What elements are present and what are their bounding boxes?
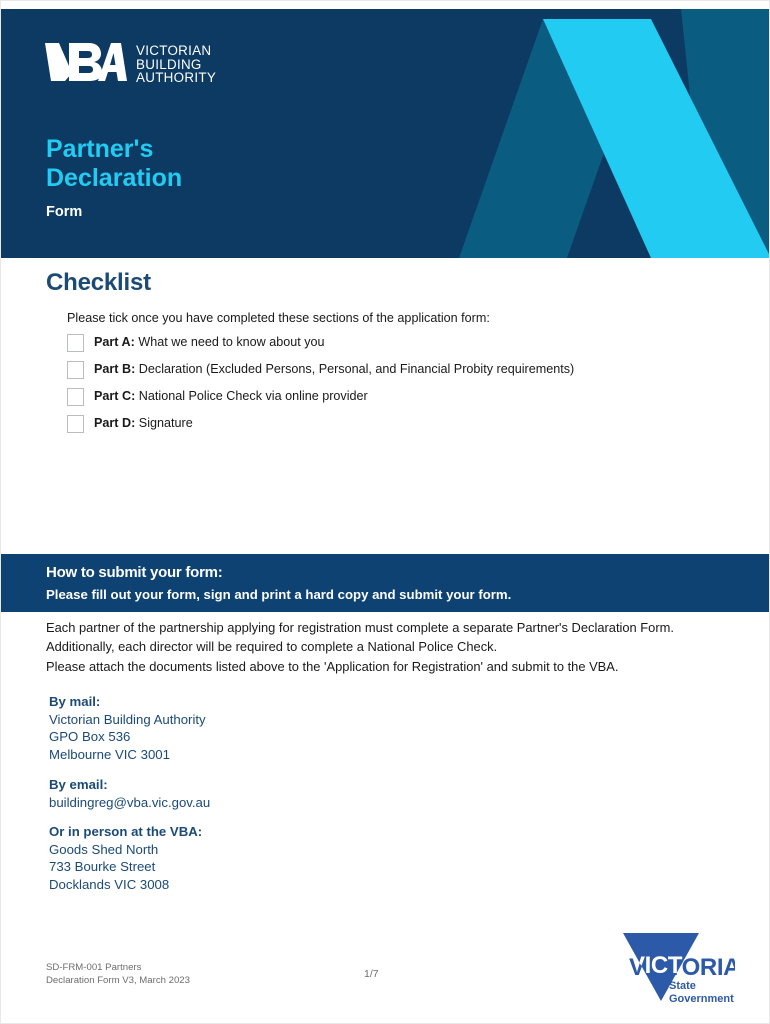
checklist-heading: Checklist: [46, 269, 151, 297]
checkbox-part-d[interactable]: [67, 415, 84, 433]
checklist-item-part-c[interactable]: Part C: National Police Check via online…: [67, 387, 707, 414]
checklist-item-label: Part B: Declaration (Excluded Persons, P…: [94, 360, 574, 378]
footer-doc-ref-line-1: SD-FRM-001 Partners: [46, 961, 190, 974]
chevron-graphic: [351, 9, 770, 258]
page-subtitle: Form: [46, 204, 82, 220]
contact-line: 733 Bourke Street: [49, 858, 202, 876]
submit-paragraph-1: Each partner of the partnership applying…: [46, 618, 706, 656]
contact-heading: By email:: [49, 776, 210, 794]
checklist-item-text: What we need to know about you: [135, 335, 325, 349]
contact-line: Melbourne VIC 3001: [49, 746, 206, 764]
contact-by-mail: By mail: Victorian Building Authority GP…: [49, 693, 206, 763]
document-page: VICTORIAN BUILDING AUTHORITY Partner's D…: [0, 0, 770, 1024]
checklist-item-part-d[interactable]: Part D: Signature: [67, 414, 707, 441]
how-to-submit-band: How to submit your form: Please fill out…: [1, 554, 770, 612]
checklist-item-part-a[interactable]: Part A: What we need to know about you: [67, 333, 707, 360]
checklist-item-text: Signature: [135, 416, 192, 430]
contact-heading: Or in person at the VBA:: [49, 823, 202, 841]
checklist-item-label: Part A: What we need to know about you: [94, 333, 325, 351]
contact-heading: By mail:: [49, 693, 206, 711]
vba-name-line-2: BUILDING: [136, 58, 216, 72]
vba-logo-icon: [43, 39, 127, 90]
vba-logo-wordmark: VICTORIAN BUILDING AUTHORITY: [136, 44, 216, 85]
vba-logo: VICTORIAN BUILDING AUTHORITY: [43, 39, 216, 90]
page-title: Partner's Declaration: [46, 135, 182, 193]
checkbox-part-a[interactable]: [67, 334, 84, 352]
submit-paragraph-2: Please attach the documents listed above…: [46, 657, 706, 676]
checkbox-part-c[interactable]: [67, 388, 84, 406]
contact-line: Goods Shed North: [49, 841, 202, 859]
checklist-item-label: Part D: Signature: [94, 414, 193, 432]
page-number: 1/7: [364, 968, 379, 980]
contact-line: Docklands VIC 3008: [49, 876, 202, 894]
checklist-item-part: Part B:: [94, 362, 135, 376]
checkbox-part-b[interactable]: [67, 361, 84, 379]
checklist-item-part: Part C:: [94, 389, 135, 403]
footer-doc-ref-line-2: Declaration Form V3, March 2023: [46, 974, 190, 987]
how-to-submit-subtitle: Please fill out your form, sign and prin…: [46, 587, 511, 602]
contact-email-address[interactable]: buildingreg@vba.vic.gov.au: [49, 794, 210, 812]
header-banner: VICTORIAN BUILDING AUTHORITY Partner's D…: [1, 9, 770, 258]
footer-document-reference: SD-FRM-001 Partners Declaration Form V3,…: [46, 961, 190, 987]
checklist-items: Part A: What we need to know about you P…: [67, 333, 707, 441]
checklist-item-text: National Police Check via online provide…: [135, 389, 367, 403]
checklist-item-part-b[interactable]: Part B: Declaration (Excluded Persons, P…: [67, 360, 707, 387]
contact-by-email: By email: buildingreg@vba.vic.gov.au: [49, 776, 210, 811]
vba-name-line-3: AUTHORITY: [136, 71, 216, 85]
svg-text:State: State: [669, 980, 696, 992]
checklist-item-text: Declaration (Excluded Persons, Personal,…: [135, 362, 574, 376]
contact-line: GPO Box 536: [49, 728, 206, 746]
contact-in-person: Or in person at the VBA: Goods Shed Nort…: [49, 823, 202, 893]
page-title-line-1: Partner's: [46, 135, 182, 164]
checklist-intro: Please tick once you have completed thes…: [67, 311, 490, 325]
checklist-item-part: Part A:: [94, 335, 135, 349]
victoria-state-government-logo: VICTORIA VICTORIA State Government: [605, 929, 735, 1009]
checklist-item-label: Part C: National Police Check via online…: [94, 387, 368, 405]
how-to-submit-title: How to submit your form:: [46, 564, 223, 581]
svg-text:Government: Government: [669, 993, 734, 1005]
contact-line: Victorian Building Authority: [49, 711, 206, 729]
page-title-line-2: Declaration: [46, 164, 182, 193]
checklist-item-part: Part D:: [94, 416, 135, 430]
vba-name-line-1: VICTORIAN: [136, 44, 216, 58]
